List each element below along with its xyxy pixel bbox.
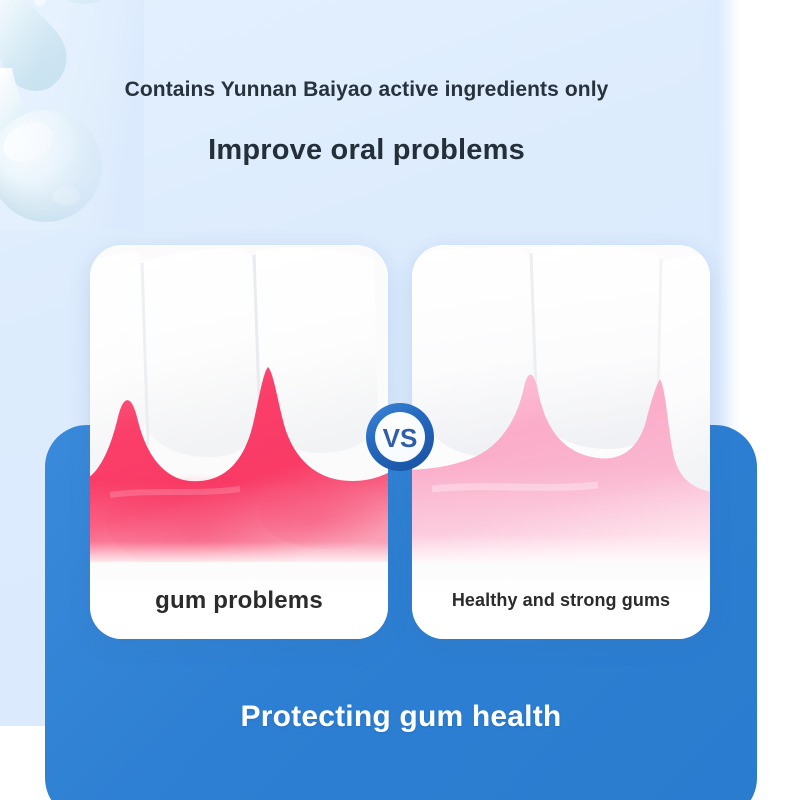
promo-graphic: Contains Yunnan Baiyao active ingredient… [0,0,800,800]
inflamed-gums-icon [90,245,388,565]
vs-badge-text: VS [383,423,418,453]
card-label-healthy: Healthy and strong gums [452,590,670,611]
header-subtitle: Contains Yunnan Baiyao active ingredient… [0,78,733,102]
banner-title: Protecting gum health [45,700,757,734]
card-label-strip-problem: gum problems [90,562,388,639]
water-droplet-icon [0,0,144,230]
healthy-gums-icon [412,245,710,565]
card-label-strip-healthy: Healthy and strong gums [412,562,710,639]
card-label-problem: gum problems [155,587,323,615]
vs-badge: VS [365,402,435,472]
comparison-card-healthy[interactable]: Healthy and strong gums [412,245,710,639]
page-title: Improve oral problems [0,134,733,167]
comparison-card-problem[interactable]: gum problems [90,245,388,639]
